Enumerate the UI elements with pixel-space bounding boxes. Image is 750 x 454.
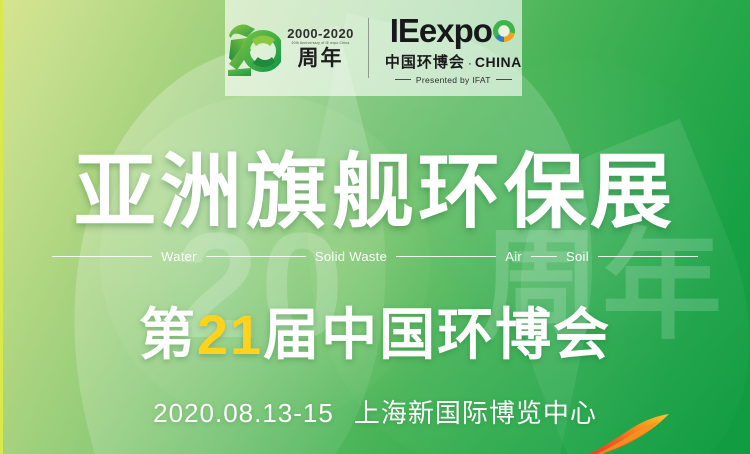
brand-chinese-row: 中国环博会 · CHINA <box>385 51 522 72</box>
presented-by-label: Presented by IFAT <box>416 75 491 85</box>
sub-headline-prefix: 第 <box>139 303 197 366</box>
left-edge-accent-strip <box>0 0 3 454</box>
pillar-rule <box>206 256 306 257</box>
exhibition-poster: 20 周年 <box>0 0 750 454</box>
event-venue: 上海新国际博览中心 <box>354 398 597 428</box>
pillar-label-solid-waste: Solid Waste <box>306 249 396 264</box>
brand-logo-group: IEexpo 中国环博会 · CHINA Presented by IFAT <box>369 12 522 85</box>
pillar-rule <box>52 256 152 257</box>
anniversary-logo-group: 2000-2020 20th Anniversary of IE expo Ch… <box>225 20 368 76</box>
anniversary-subtitle: 20th Anniversary of IE expo China <box>292 42 350 45</box>
pillars-row: Water Solid Waste Air Soil <box>52 249 698 264</box>
anniversary-label-cn: 周年 <box>298 48 344 69</box>
sub-headline-suffix: 届中国环博会 <box>263 303 611 366</box>
recycle-circle-icon <box>491 18 517 44</box>
anniversary-years: 2000-2020 <box>287 27 354 40</box>
edition-number: 21 <box>197 303 263 366</box>
brand-name: IEexpo <box>390 12 492 50</box>
brand-separator-dot: · <box>468 56 472 70</box>
pillar-rule <box>396 256 496 257</box>
brand-name-row: IEexpo <box>390 12 517 50</box>
rule-left <box>395 79 411 80</box>
brand-name-cn: 中国环博会 <box>385 51 465 72</box>
rule-right <box>496 79 512 80</box>
event-date: 2020.08.13-15 <box>153 398 334 428</box>
pillar-label-water: Water <box>152 249 206 264</box>
20-ribbon-mark-icon <box>225 20 281 76</box>
anniversary-text-block: 2000-2020 20th Anniversary of IE expo Ch… <box>287 27 354 70</box>
header-logo-panel: 2000-2020 20th Anniversary of IE expo Ch… <box>225 0 522 96</box>
sub-headline: 第21届中国环博会 <box>0 307 750 363</box>
event-details-line: 2020.08.13-15上海新国际博览中心 <box>0 393 750 430</box>
pillar-label-air: Air <box>496 249 531 264</box>
brand-region: CHINA <box>475 54 522 70</box>
pillar-rule <box>598 256 698 257</box>
pillar-label-soil: Soil <box>557 249 598 264</box>
presented-by-row: Presented by IFAT <box>395 75 512 85</box>
main-headline: 亚洲旗舰环保展 <box>0 152 750 234</box>
pillar-rule <box>531 256 557 257</box>
